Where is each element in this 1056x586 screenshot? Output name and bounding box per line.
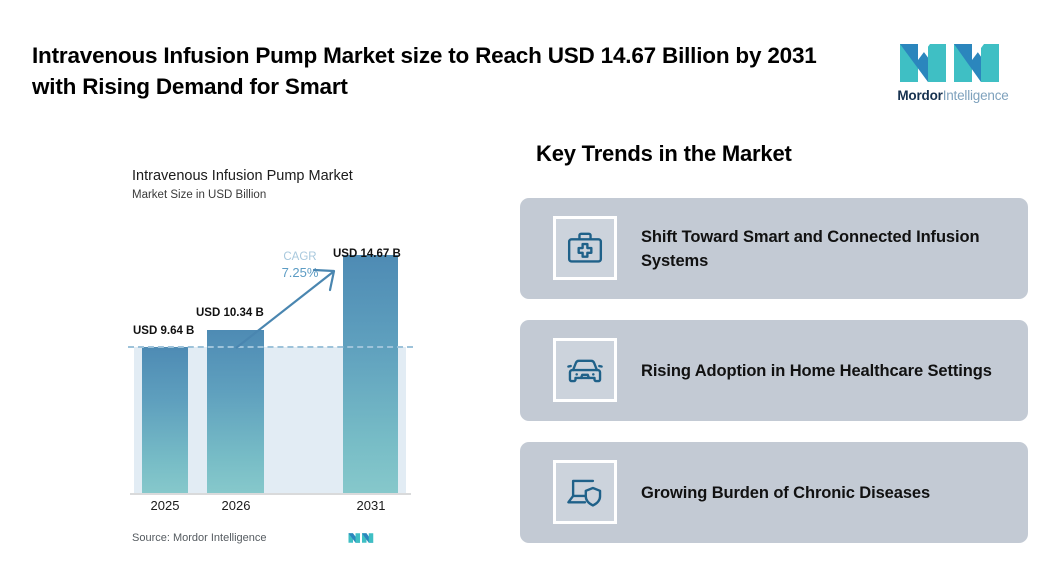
mordor-logo-mark (898, 30, 1002, 84)
page-header: Intravenous Infusion Pump Market size to… (0, 0, 1056, 120)
trend-card-3-label: Growing Burden of Chronic Diseases (641, 442, 1011, 543)
x-tick-2025: 2025 (135, 498, 195, 513)
trend-card-1-label: Shift Toward Smart and Connected Infusio… (641, 198, 1011, 299)
chart-x-axis-line (130, 493, 411, 495)
cagr-value: 7.25% (269, 265, 331, 281)
bar-value-label-2026: USD 10.34 B (196, 307, 264, 319)
logo-word-secondary: Intelligence (943, 88, 1009, 103)
bar-2031 (343, 255, 398, 493)
trend-card-1[interactable]: Shift Toward Smart and Connected Infusio… (520, 198, 1028, 299)
bar-value-label-2031: USD 14.67 B (333, 248, 401, 260)
medical-kit-icon (553, 216, 617, 280)
bar-2025 (142, 347, 188, 493)
chart-subtitle: Market Size in USD Billion (132, 189, 266, 201)
key-trends-heading: Key Trends in the Market (536, 141, 792, 167)
trend-card-3[interactable]: Growing Burden of Chronic Diseases (520, 442, 1028, 543)
chart-source: Source: Mordor Intelligence (132, 532, 267, 544)
x-tick-2026: 2026 (206, 498, 266, 513)
cagr-annotation: CAGR 7.25% (269, 249, 331, 281)
chart-plot-area: USD 9.64 B USD 10.34 B USD 14.67 B CAGR … (128, 220, 413, 495)
bar-2026 (207, 330, 264, 493)
chart-reference-line (128, 346, 413, 348)
cagr-label: CAGR (269, 249, 331, 265)
laptop-shield-icon (553, 460, 617, 524)
source-logo-icon (348, 528, 374, 545)
market-size-bar-chart: Intravenous Infusion Pump Market Market … (128, 160, 413, 555)
trend-card-2[interactable]: Rising Adoption in Home Healthcare Setti… (520, 320, 1028, 421)
car-front-icon (553, 338, 617, 402)
bar-value-label-2025: USD 9.64 B (133, 325, 194, 337)
x-tick-2031: 2031 (341, 498, 401, 513)
chart-title: Intravenous Infusion Pump Market (132, 168, 353, 184)
trend-card-2-label: Rising Adoption in Home Healthcare Setti… (641, 320, 1011, 421)
logo-wordmark: MordorIntelligence (888, 88, 1018, 103)
logo-word-primary: Mordor (897, 88, 942, 103)
page-title: Intravenous Infusion Pump Market size to… (32, 40, 862, 102)
brand-logo: MordorIntelligence (888, 30, 1018, 110)
